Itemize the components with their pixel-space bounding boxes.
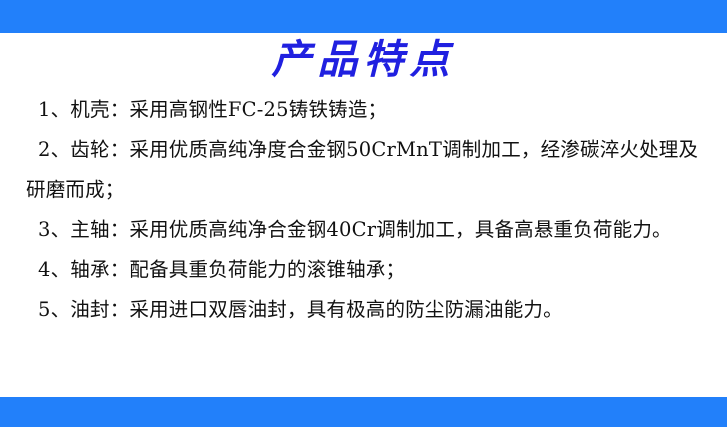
list-item: 4、轴承：配备具重负荷能力的滚锥轴承； [26,250,705,290]
list-item: 3、主轴：采用优质高纯净合金钢40Cr调制加工，具备高悬重负荷能力。 [26,210,705,250]
page-title: 产品特点 [0,36,727,84]
product-features-poster: 产品特点 1、机壳：采用高钢性FC-25铸铁铸造； 2、齿轮：采用优质高纯净度合… [0,0,727,427]
top-blue-band [0,0,727,33]
bottom-blue-band [0,397,727,427]
list-item: 5、油封：采用进口双唇油封，具有极高的防尘防漏油能力。 [26,290,705,330]
list-item: 1、机壳：采用高钢性FC-25铸铁铸造； [26,90,705,130]
list-item: 2、齿轮：采用优质高纯净度合金钢50CrMnT调制加工，经渗碳淬火处理及研磨而成… [26,130,705,210]
feature-list: 1、机壳：采用高钢性FC-25铸铁铸造； 2、齿轮：采用优质高纯净度合金钢50C… [0,90,727,330]
